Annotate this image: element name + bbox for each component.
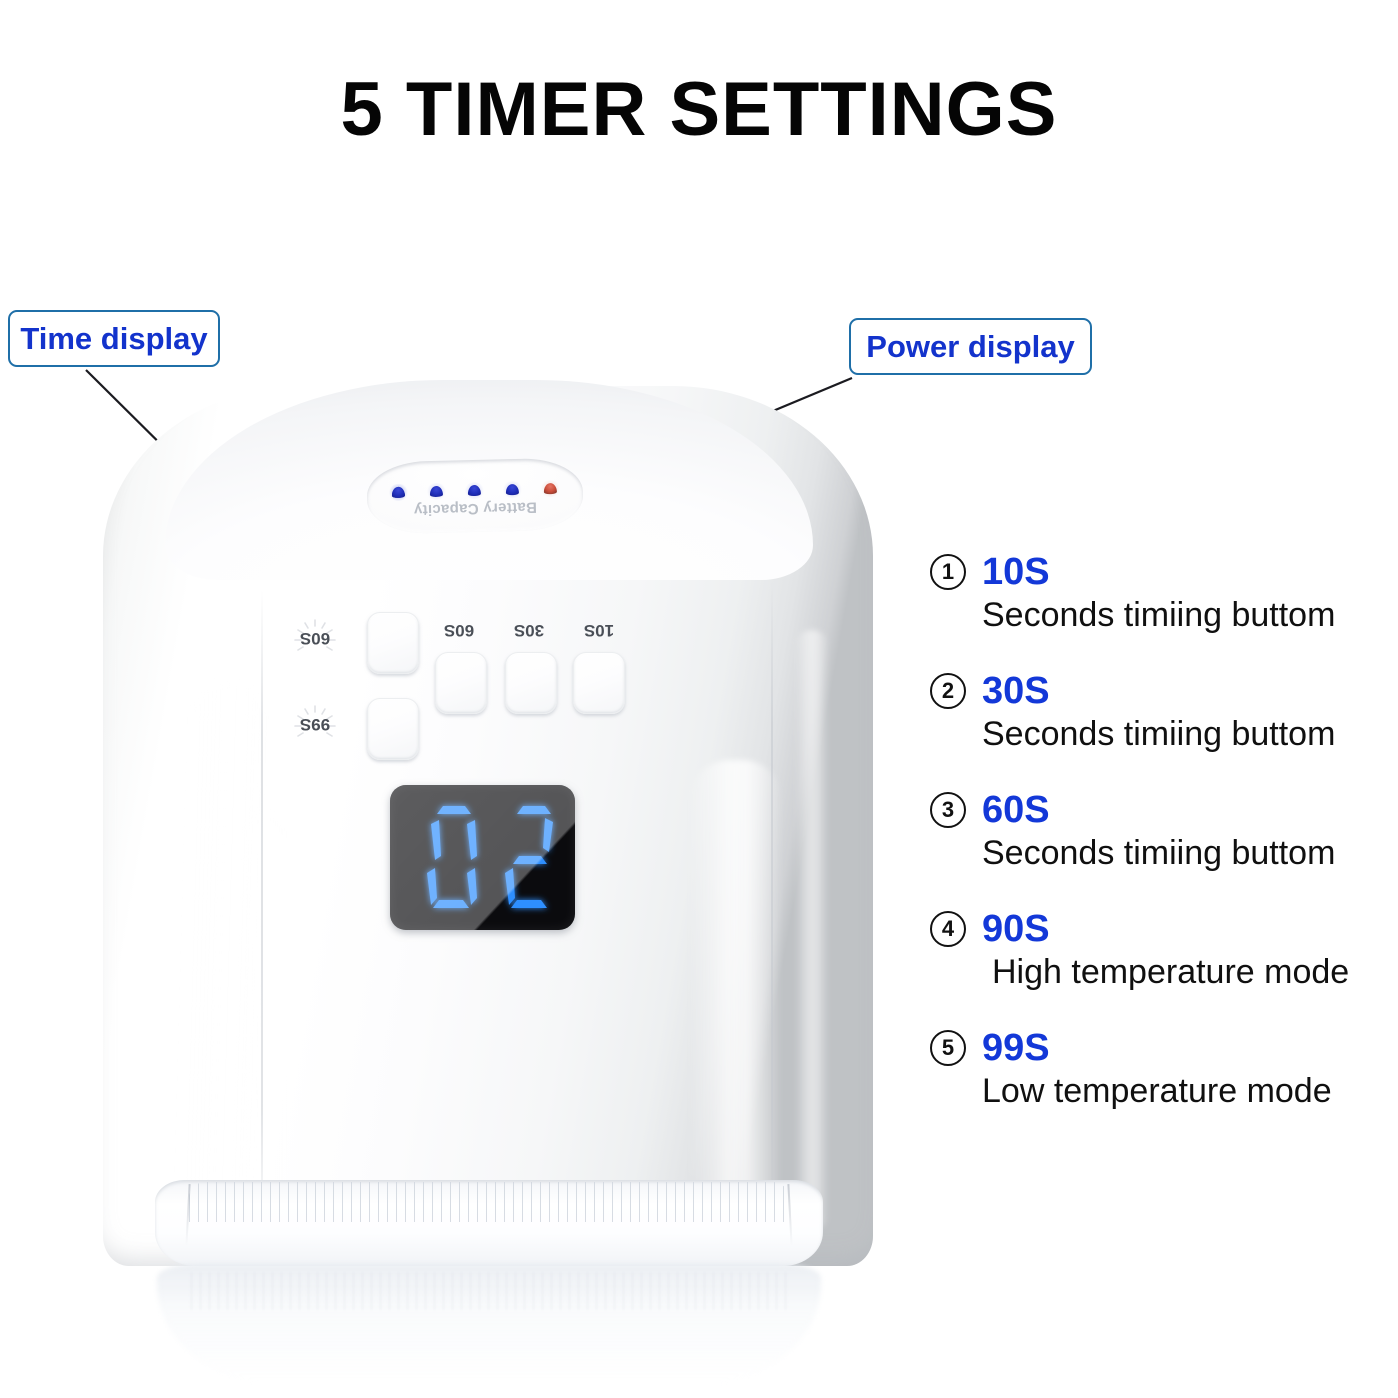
list-item-head: 1 10S bbox=[930, 551, 1390, 593]
body-seam-right bbox=[771, 580, 773, 1240]
button-60s[interactable] bbox=[435, 652, 487, 714]
battery-led-3-icon bbox=[392, 487, 405, 498]
base-lip-right bbox=[787, 1184, 792, 1246]
device-base-vent bbox=[155, 1180, 823, 1266]
battery-led-3b-icon bbox=[468, 485, 481, 496]
button-label-60s-left: 60S bbox=[283, 628, 347, 648]
battery-led-5-icon bbox=[544, 483, 557, 494]
time-display-screen bbox=[390, 785, 575, 930]
battery-led-4-icon bbox=[506, 484, 519, 495]
callout-power-display: Power display bbox=[849, 318, 1092, 375]
list-item-description: Seconds timiing buttom bbox=[982, 596, 1390, 635]
list-item: 4 90S High temperature mode bbox=[930, 908, 1390, 992]
seven-segment-digits bbox=[390, 785, 575, 930]
button-label-30s: 30S bbox=[499, 620, 559, 640]
list-item-number: 5 bbox=[930, 1030, 966, 1066]
list-item-head: 4 90S bbox=[930, 908, 1390, 950]
list-item-description: Low temperature mode bbox=[982, 1072, 1390, 1111]
list-item: 1 10S Seconds timiing buttom bbox=[930, 551, 1390, 635]
button-60s-left[interactable] bbox=[367, 612, 419, 674]
list-item-number: 4 bbox=[930, 911, 966, 947]
list-item-number: 2 bbox=[930, 673, 966, 709]
nail-lamp-device: Battery Capacity 60S bbox=[95, 380, 885, 1300]
list-item: 3 60S Seconds timiing buttom bbox=[930, 789, 1390, 873]
button-30s[interactable] bbox=[505, 652, 557, 714]
vent-ribs bbox=[189, 1182, 789, 1222]
battery-capacity-plate: Battery Capacity bbox=[366, 457, 584, 534]
button-10s[interactable] bbox=[573, 652, 625, 714]
list-item-description: Seconds timiing buttom bbox=[982, 715, 1390, 754]
button-label-60s: 60S bbox=[429, 620, 489, 640]
button-label-10s: 10S bbox=[569, 620, 629, 640]
list-item-head: 2 30S bbox=[930, 670, 1390, 712]
gloss-highlight-right-edge bbox=[795, 630, 829, 1230]
callout-power-display-label: Power display bbox=[866, 329, 1074, 365]
callout-time-display: Time display bbox=[8, 310, 220, 367]
battery-led-2-icon bbox=[430, 486, 443, 497]
callout-time-display-label: Time display bbox=[20, 321, 207, 357]
page-title: 5 TIMER SETTINGS bbox=[0, 66, 1398, 153]
gloss-highlight-right bbox=[690, 760, 782, 1240]
list-item-key: 99S bbox=[982, 1029, 1050, 1067]
body-seam-left bbox=[261, 590, 263, 1240]
list-item-key: 90S bbox=[982, 910, 1050, 948]
gloss-highlight-left-inner bbox=[245, 810, 287, 1240]
list-item-head: 3 60S bbox=[930, 789, 1390, 831]
button-label-99s: 99S bbox=[283, 714, 347, 734]
list-item-key: 60S bbox=[982, 791, 1050, 829]
device-reflection-ribs bbox=[191, 1272, 791, 1310]
infographic-page: 5 TIMER SETTINGS Time display Power disp… bbox=[0, 0, 1398, 1398]
list-item-key: 10S bbox=[982, 553, 1050, 591]
list-item-number: 1 bbox=[930, 554, 966, 590]
list-item-head: 5 99S bbox=[930, 1027, 1390, 1069]
list-item-number: 3 bbox=[930, 792, 966, 828]
list-item-description: Seconds timiing buttom bbox=[982, 834, 1390, 873]
list-item: 5 99S Low temperature mode bbox=[930, 1027, 1390, 1111]
button-99s[interactable] bbox=[367, 698, 419, 760]
timer-settings-list: 1 10S Seconds timiing buttom 2 30S Secon… bbox=[930, 551, 1390, 1146]
list-item: 2 30S Seconds timiing buttom bbox=[930, 670, 1390, 754]
list-item-description: High temperature mode bbox=[992, 953, 1390, 992]
list-item-key: 30S bbox=[982, 672, 1050, 710]
